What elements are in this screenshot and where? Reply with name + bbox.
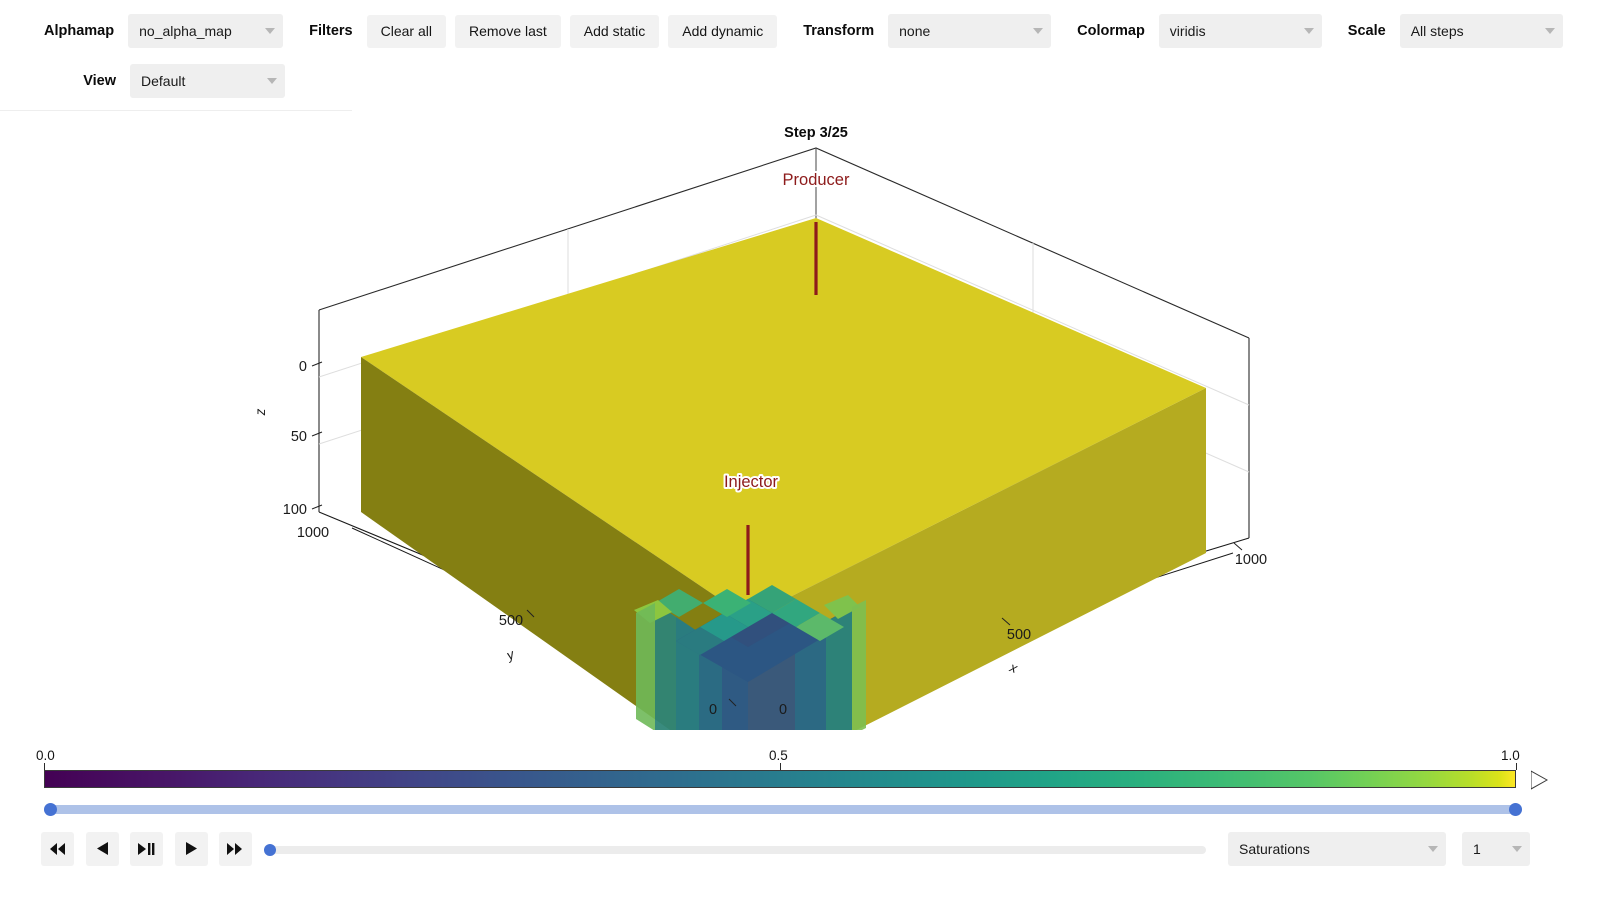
chevron-down-icon	[1545, 28, 1555, 34]
colorbar-range-slider[interactable]	[44, 801, 1522, 819]
scale-label: Scale	[1348, 23, 1386, 39]
playback-bar: Saturations 1	[0, 832, 1600, 872]
chevron-down-icon	[1304, 28, 1314, 34]
y-tick-500: 500	[499, 613, 523, 629]
fast-forward-icon	[227, 843, 244, 856]
remove-last-button[interactable]: Remove last	[455, 15, 561, 48]
rewind-icon	[49, 843, 66, 856]
layer-select[interactable]: 1	[1462, 832, 1530, 866]
reservoir-block	[361, 218, 1206, 730]
step-backward-button[interactable]	[86, 832, 119, 866]
colorbar-tick-max: 1.0	[1501, 748, 1520, 763]
colormap-label: Colormap	[1077, 23, 1145, 39]
alphamap-select-value: no_alpha_map	[139, 23, 232, 39]
chevron-down-icon	[1033, 28, 1043, 34]
y-tick-0: 0	[709, 702, 717, 718]
transform-select[interactable]: none	[888, 14, 1051, 48]
range-slider-handle-min[interactable]	[44, 803, 57, 816]
layer-select-value: 1	[1473, 841, 1481, 857]
colormap-select[interactable]: viridis	[1159, 14, 1322, 48]
add-static-button[interactable]: Add static	[570, 15, 659, 48]
injector-well-label: Injector	[724, 473, 779, 491]
z-tick-100: 100	[283, 502, 307, 518]
reservoir-3d-plot[interactable]: Step 3/25 Producer Injector 0 50 100 z 1…	[0, 110, 1600, 730]
colorbar-overflow-arrow	[1516, 770, 1531, 788]
filters-label: Filters	[309, 23, 353, 39]
producer-well-label: Producer	[783, 171, 850, 189]
x-tick-500: 500	[1007, 627, 1031, 643]
x-tick-1000: 1000	[1235, 552, 1267, 568]
x-tick-0: 0	[779, 702, 787, 718]
step-slider-handle[interactable]	[264, 844, 276, 856]
z-tick-50: 50	[291, 429, 307, 445]
play-button[interactable]	[175, 832, 208, 866]
range-slider-handle-max[interactable]	[1509, 803, 1522, 816]
colorbar-tick-min: 0.0	[36, 748, 55, 763]
colorbar-gradient	[44, 770, 1516, 788]
skip-to-end-button[interactable]	[219, 832, 252, 866]
clear-all-button[interactable]: Clear all	[367, 15, 446, 48]
view-select-value: Default	[141, 73, 185, 89]
colorbar-tick-mid: 0.5	[769, 748, 788, 763]
chevron-down-icon	[267, 78, 277, 84]
play-pause-icon	[138, 843, 155, 856]
skip-to-start-button[interactable]	[41, 832, 74, 866]
y-axis-label: y	[503, 646, 517, 663]
z-axis: 0 50 100 z	[253, 359, 322, 518]
colormap-select-value: viridis	[1170, 23, 1206, 39]
previous-triangle-icon	[96, 842, 109, 856]
step-slider-track[interactable]	[264, 846, 1206, 854]
z-tick-0: 0	[299, 359, 307, 375]
scale-select[interactable]: All steps	[1400, 14, 1563, 48]
transform-label: Transform	[803, 23, 874, 39]
transform-select-value: none	[899, 23, 930, 39]
chevron-down-icon	[265, 28, 275, 34]
step-slider[interactable]	[264, 844, 1206, 856]
scale-select-value: All steps	[1411, 23, 1464, 39]
view-label: View	[44, 73, 116, 89]
toolbar: Alphamap no_alpha_map Filters Clear all …	[0, 0, 1600, 108]
alphamap-select[interactable]: no_alpha_map	[128, 14, 283, 48]
x-axis-label: x	[1007, 659, 1021, 676]
saturation-plume	[634, 585, 866, 730]
toolbar-row-secondary: View Default	[44, 64, 285, 98]
property-select-value: Saturations	[1239, 841, 1310, 857]
colorbar: 0.0 0.5 1.0	[0, 748, 1600, 796]
chevron-down-icon	[1512, 846, 1522, 852]
play-triangle-icon	[185, 842, 198, 856]
property-select[interactable]: Saturations	[1228, 832, 1446, 866]
play-pause-button[interactable]	[130, 832, 163, 866]
z-axis-label: z	[253, 408, 268, 416]
view-select[interactable]: Default	[130, 64, 285, 98]
plot-title: Step 3/25	[784, 125, 848, 141]
toolbar-row-primary: Alphamap no_alpha_map Filters Clear all …	[44, 14, 1563, 48]
add-dynamic-button[interactable]: Add dynamic	[668, 15, 777, 48]
range-slider-track[interactable]	[44, 805, 1522, 814]
chevron-down-icon	[1428, 846, 1438, 852]
y-tick-1000: 1000	[297, 525, 329, 541]
alphamap-label: Alphamap	[44, 23, 114, 39]
